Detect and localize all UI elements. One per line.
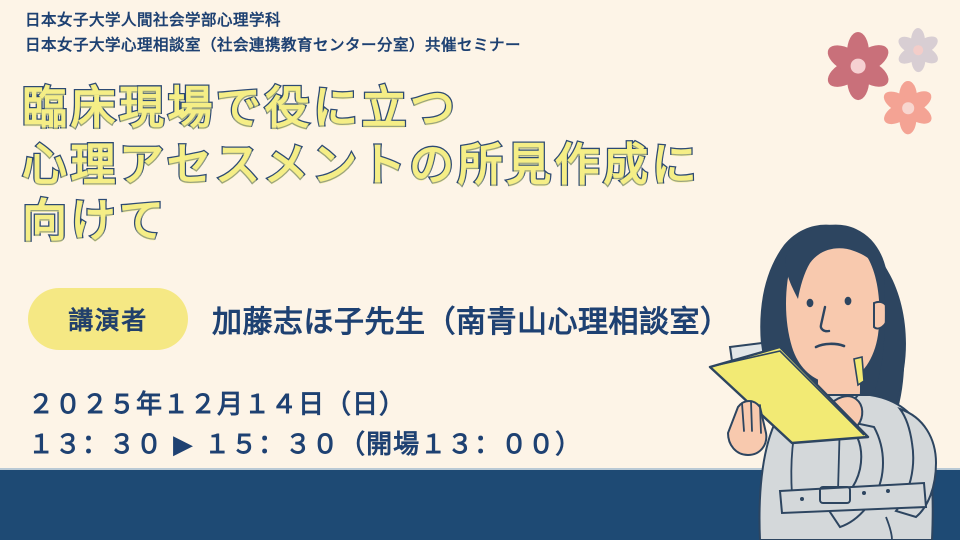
org-line-2: 日本女子大学心理相談室（社会連携教育センター分室）共催セミナー <box>25 33 521 58</box>
title-line-3: 向けて <box>22 193 700 250</box>
org-line-1: 日本女子大学人間社会学部心理学科 <box>25 8 521 33</box>
speaker-name: 加藤志ほ子先生（南青山心理相談室） <box>212 297 731 341</box>
belt-stud-2 <box>886 489 890 493</box>
page-title: 臨床現場で役に立つ 心理アセスメントの所見作成に 向けて <box>22 80 700 250</box>
finger-3 <box>760 405 761 433</box>
finger-2 <box>751 401 752 431</box>
title-line-2: 心理アセスメントの所見作成に <box>22 137 700 194</box>
flower-medium-coral <box>879 79 937 137</box>
organisation-header: 日本女子大学人間社会学部心理学科 日本女子大学心理相談室（社会連携教育センター分… <box>25 8 521 58</box>
eye-right <box>845 297 852 305</box>
seminar-poster: 日本女子大学人間社会学部心理学科 日本女子大学心理相談室（社会連携教育センター分… <box>0 0 960 540</box>
schedule-time: １３：３０ ▶ １５：３０（開場１３：００） <box>28 426 582 466</box>
schedule-block: ２０２５年１２月１４日（日） １３：３０ ▶ １５：３０（開場１３：００） <box>28 386 582 465</box>
belt-stud-1 <box>862 491 866 495</box>
thinking-woman-illustration <box>688 195 960 540</box>
flower-center <box>902 102 914 114</box>
flower-center <box>851 59 866 74</box>
speaker-row: 講演者 加藤志ほ子先生（南青山心理相談室） <box>28 288 731 350</box>
flower-center <box>913 45 923 55</box>
title-line-1: 臨床現場で役に立つ <box>22 80 700 137</box>
flower-small-lavender <box>894 26 942 74</box>
eye-left <box>807 299 814 307</box>
belt-stud-3 <box>800 497 804 501</box>
speaker-badge: 講演者 <box>28 288 188 350</box>
schedule-date: ２０２５年１２月１４日（日） <box>28 386 582 426</box>
